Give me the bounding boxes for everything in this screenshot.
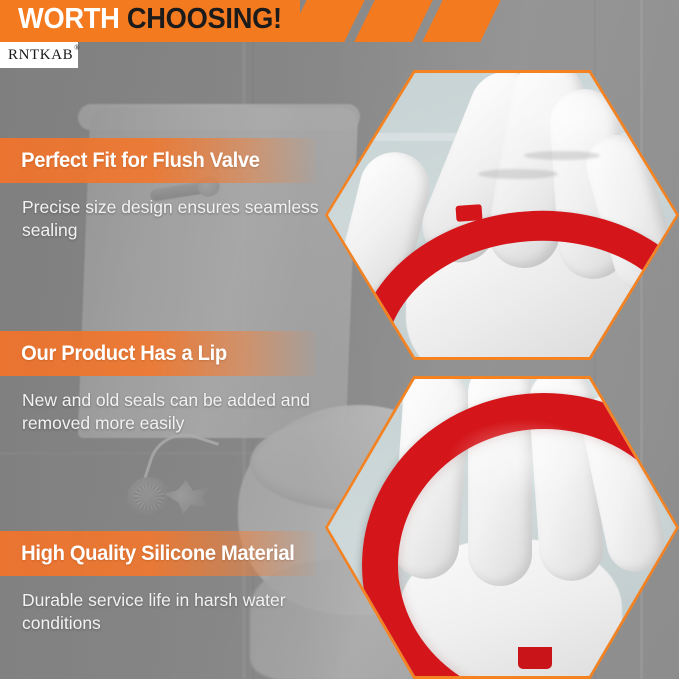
banner-title: WORTH CHOOSING! [18,3,282,36]
feature-block-3: High Quality Silicone Material Durable s… [0,531,332,635]
feature-title-bar: Perfect Fit for Flush Valve [0,138,316,183]
feature-title-bar: Our Product Has a Lip [0,331,316,376]
glove-crease [478,169,558,179]
feature-title: Perfect Fit for Flush Valve [0,149,260,173]
banner-title-part-two: CHOOSING! [127,3,282,35]
feature-description: Durable service life in harsh water cond… [0,589,332,635]
feature-description: Precise size design ensures seamless sea… [0,196,332,242]
feature-title: High Quality Silicone Material [0,542,294,566]
header-banner: WORTH CHOOSING! [0,0,679,42]
brand-logo: RNTKAB® [0,42,78,68]
banner-title-part-one: WORTH [18,3,120,35]
feature-block-1: Perfect Fit for Flush Valve Precise size… [0,138,332,242]
seal-lip-tab [455,204,482,222]
feature-title-bar: High Quality Silicone Material [0,531,316,576]
banner-stripe-icon [351,0,434,42]
registered-trademark-icon: ® [74,44,80,52]
feature-title: Our Product Has a Lip [0,342,227,366]
feature-block-2: Our Product Has a Lip New and old seals … [0,331,332,435]
glove-crease [524,151,600,160]
banner-stripe-icon [419,0,502,42]
feature-description: New and old seals can be added and remov… [0,389,332,435]
product-feature-poster: WORTH CHOOSING! RNTKAB® Perfect Fit for … [0,0,679,679]
brand-name: RNTKAB [8,47,73,63]
brand-logo-text: RNTKAB® [0,47,79,64]
